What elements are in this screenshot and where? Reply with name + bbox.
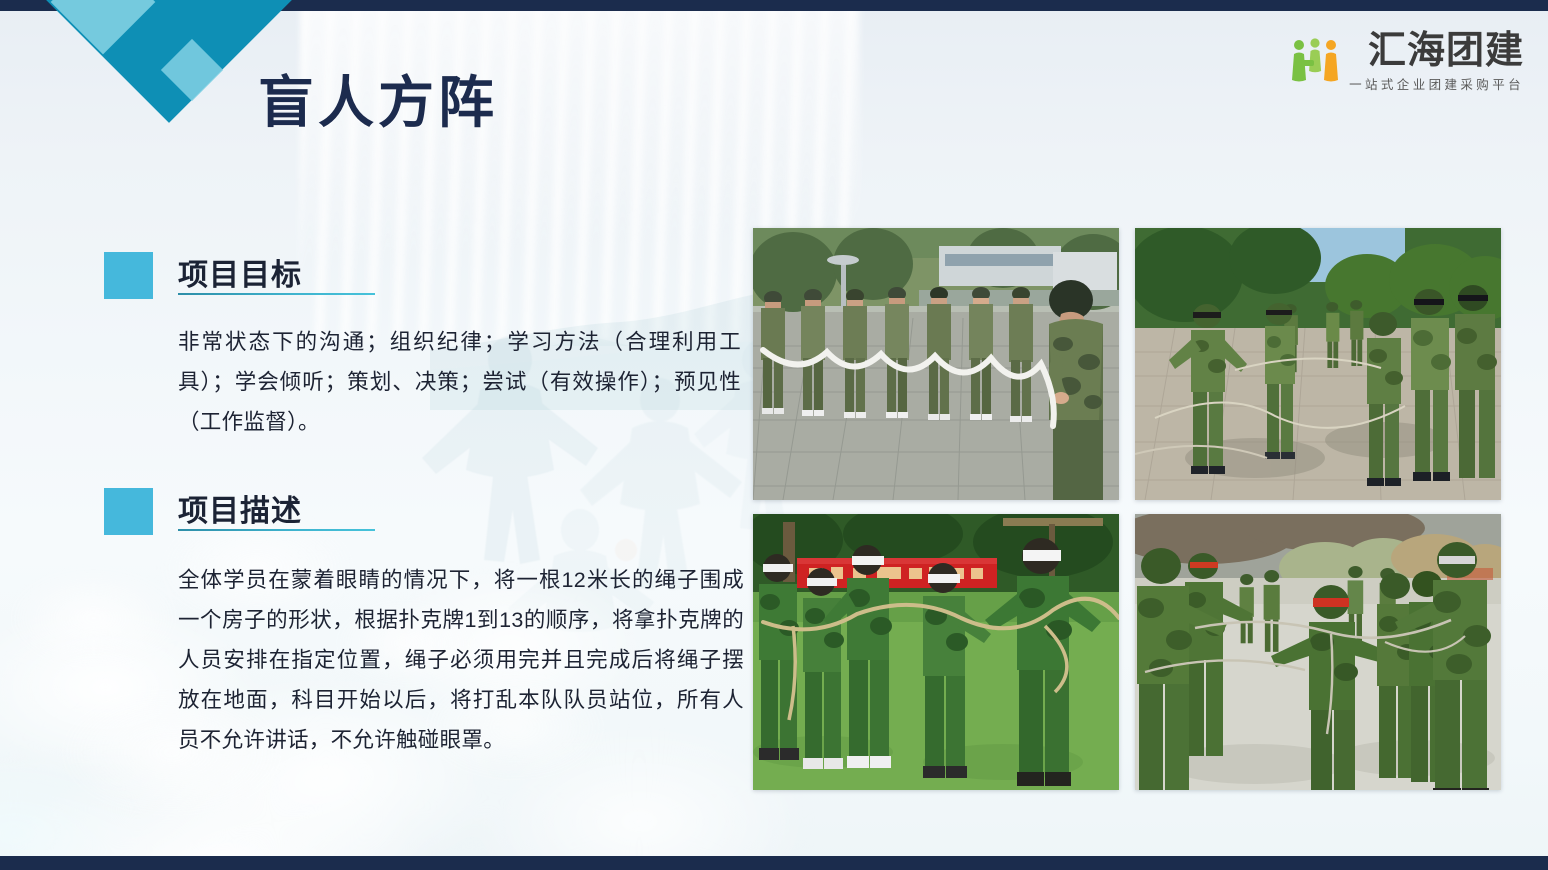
photo-4: [1135, 514, 1501, 790]
logo-text-group: 汇海团建 一站式企业团建采购平台: [1349, 32, 1524, 93]
section-goal-heading: 项目目标: [178, 250, 302, 294]
section-goal-rule: [178, 293, 375, 295]
photo-2: [1135, 228, 1501, 500]
section-goal: 项目目标 非常状态下的沟通；组织纪律；学习方法（合理利用工具）；学会倾听；策划、…: [104, 252, 741, 442]
section-accent-square: [104, 252, 153, 299]
photo-1: [753, 228, 1119, 500]
brand-logo: 汇海团建 一站式企业团建采购平台: [1290, 32, 1524, 93]
section-description-body: 全体学员在蒙着眼睛的情况下，将一根12米长的绳子围成一个房子的形状，根据扑克牌1…: [178, 560, 744, 760]
bottom-navy-bar: [0, 856, 1548, 870]
section-description-heading: 项目描述: [178, 486, 302, 530]
section-goal-header: 项目目标: [104, 252, 741, 308]
photo-4-image: [1135, 514, 1501, 790]
section-accent-square: [104, 488, 153, 535]
photo-2-image: [1135, 228, 1501, 500]
photo-3-image: [753, 514, 1119, 790]
page-title: 盲人方阵: [258, 58, 498, 139]
logo-tagline: 一站式企业团建采购平台: [1349, 74, 1524, 93]
photo-3: [753, 514, 1119, 790]
section-description-header: 项目描述: [104, 488, 744, 544]
slide-root: 盲人方阵 汇海团建 一站式企业团建采购平台 项目目标 非常状态下的沟通；组织纪律…: [0, 0, 1548, 870]
photo-1-image: [753, 228, 1119, 500]
section-description-rule: [178, 529, 375, 531]
photo-grid: [753, 228, 1501, 805]
logo-brand-name: 汇海团建: [1368, 32, 1524, 71]
section-description: 项目描述 全体学员在蒙着眼睛的情况下，将一根12米长的绳子围成一个房子的形状，根…: [104, 488, 744, 760]
section-goal-body: 非常状态下的沟通；组织纪律；学习方法（合理利用工具）；学会倾听；策划、决策；尝试…: [178, 322, 741, 442]
hi-people-icon: [1290, 38, 1340, 86]
